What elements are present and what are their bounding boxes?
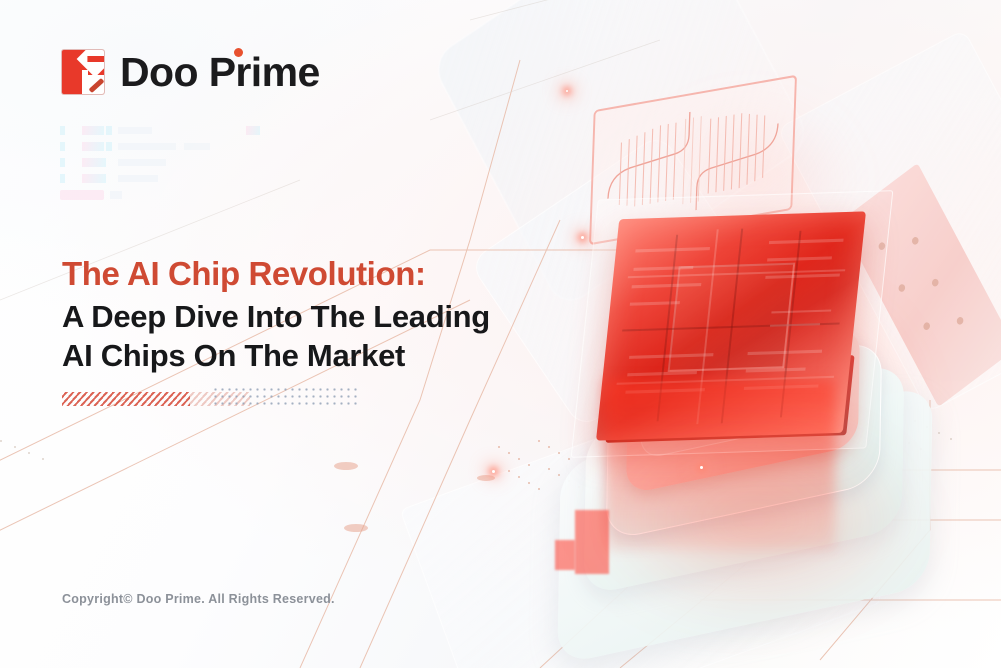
headline-line-1: A Deep Dive Into The Leading <box>62 297 582 336</box>
doo-prime-logo-icon <box>62 50 104 94</box>
brand-name: Doo Prime <box>120 52 320 93</box>
page-title: The AI Chip Revolution: A Deep Dive Into… <box>62 254 582 375</box>
decorative-data-rows <box>60 124 270 204</box>
dot-grid <box>212 386 357 406</box>
brand-logo[interactable]: Doo Prime <box>62 50 320 94</box>
decorative-divider <box>62 392 294 406</box>
hero-banner: Doo Prime The AI Ch <box>0 0 1001 668</box>
headline-line-2: AI Chips On The Market <box>62 336 582 375</box>
copyright-text: Copyright© Doo Prime. All Rights Reserve… <box>62 592 335 606</box>
hero-content: Doo Prime The AI Ch <box>0 0 1001 668</box>
hatch-bar <box>62 392 190 406</box>
headline-accent: The AI Chip Revolution: <box>62 254 582 295</box>
